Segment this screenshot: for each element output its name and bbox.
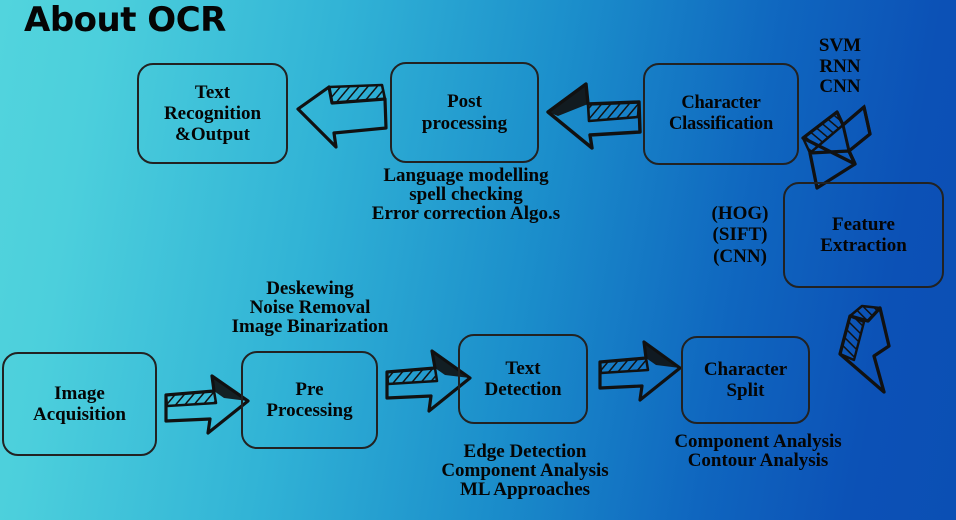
caption-feature-methods: (HOG) (SIFT) (CNN): [692, 203, 788, 267]
arrow-split-to-feature-extraction: [834, 306, 910, 392]
node-image-acquisition[interactable]: Image Acquisition: [2, 352, 157, 456]
page-title: About OCR: [24, 0, 226, 42]
node-post-processing[interactable]: Post processing: [390, 62, 539, 163]
ocr-pipeline-diagram: About OCR Text Recognition &Output Post …: [0, 0, 956, 520]
caption-character-split-methods: Component Analysis Contour Analysis: [633, 432, 883, 470]
arrow-postprocessing-to-output: [296, 84, 388, 150]
arrow-acquisition-to-preprocessing: [164, 374, 250, 436]
node-character-split[interactable]: Character Split: [681, 336, 810, 424]
caption-post-processing-methods: Language modelling spell checking Error …: [335, 166, 597, 223]
node-text-recognition-output[interactable]: Text Recognition &Output: [137, 63, 288, 164]
arrow-classification-to-postprocessing: [546, 82, 642, 150]
caption-classification-methods: SVM RNN CNN: [790, 36, 890, 98]
node-text-detection[interactable]: Text Detection: [458, 334, 588, 424]
caption-pre-processing-methods: Deskewing Noise Removal Image Binarizati…: [190, 279, 430, 336]
node-character-classification[interactable]: Character Classification: [643, 63, 799, 165]
node-feature-extraction[interactable]: Feature Extraction: [783, 182, 944, 288]
arrow-detection-to-split: [598, 340, 682, 402]
arrow-feature-to-classification: [800, 104, 872, 188]
caption-text-detection-methods: Edge Detection Component Analysis ML App…: [403, 442, 647, 499]
node-pre-processing[interactable]: Pre Processing: [241, 351, 378, 449]
